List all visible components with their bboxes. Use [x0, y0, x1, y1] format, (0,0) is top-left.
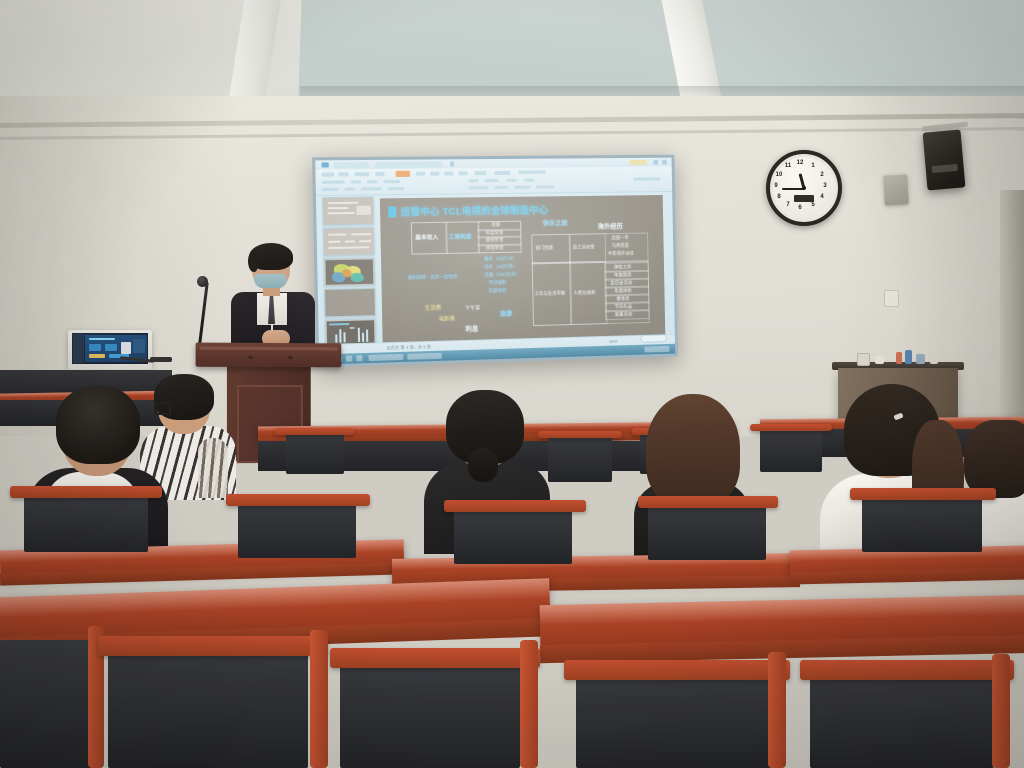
clock-numeral: 2 [818, 172, 826, 178]
chair-rail [98, 636, 328, 656]
maximize-icon[interactable] [653, 160, 658, 165]
app-logo-icon [322, 162, 329, 167]
chair-post [310, 630, 328, 768]
clock-numeral: 11 [784, 163, 792, 169]
chair-back [286, 432, 344, 474]
table-cell-text: 家属活动 [615, 311, 632, 317]
presenter-hair-side [248, 252, 258, 272]
slide-scatter-label: 生活费 [425, 303, 442, 311]
chair-rail [538, 431, 622, 438]
clock-minute-hand [782, 188, 804, 190]
cabinet-bottle [905, 350, 912, 364]
projection-surface: 运营中心 TCL电视的全球制造中心 基本收入 工资构成 月薪 年度奖金 绩效奖金… [315, 158, 675, 365]
chair-back [648, 504, 766, 560]
table-cell-text: 年度体检 [614, 287, 631, 293]
cabinet-box [916, 354, 925, 364]
taskbar-icon[interactable] [356, 355, 362, 361]
ribbon-button[interactable] [367, 180, 377, 183]
classroom-scene: 12 1 2 3 4 5 6 7 8 9 10 11 [0, 0, 1024, 768]
face-mask-icon [254, 274, 287, 288]
chair-rail [226, 494, 370, 506]
slide-thumbnail[interactable] [323, 227, 375, 256]
table-cell-text: 人性化福利 [574, 290, 596, 296]
slide-mid-item: 交通（200元/月） [484, 272, 520, 279]
table-cell-text: 员工活动室 [573, 244, 595, 250]
slide-scatter-label: 利息 [465, 324, 478, 333]
ribbon-button[interactable] [514, 186, 530, 189]
table-cell-text: 半年境外派驻 [608, 250, 634, 256]
ribbon-highlight-button[interactable] [396, 171, 410, 177]
ribbon-tab[interactable] [375, 161, 442, 168]
wall-vent-panel [883, 174, 909, 205]
clock-center-pin [802, 186, 806, 190]
chair-post [768, 652, 786, 768]
slide-thumbnail-pane[interactable] [320, 196, 377, 345]
ribbon-button[interactable] [384, 180, 400, 183]
ribbon-button[interactable] [494, 171, 510, 175]
podium-knob [248, 356, 253, 359]
chair-back [24, 494, 148, 552]
chair-rail [330, 648, 540, 668]
system-tray[interactable] [644, 346, 669, 353]
door-frame [1000, 190, 1024, 450]
clock-numeral: 4 [818, 194, 826, 200]
ribbon-button[interactable] [458, 171, 467, 175]
powerpoint-window[interactable]: 运营中心 TCL电视的全球制造中心 基本收入 工资构成 月薪 年度奖金 绩效奖金… [315, 158, 675, 365]
slide-mid-item: 年度体检 [489, 288, 507, 294]
table-cell-text: 基本收入 [415, 233, 438, 241]
laptop-lid [68, 330, 152, 370]
table-cell-text: 马来西亚 [612, 243, 629, 249]
table-cell-text: 生日会活动 [610, 280, 632, 286]
table-cell-text: 弹性工作 [614, 264, 631, 270]
ribbon-button[interactable] [361, 187, 382, 190]
ribbon-button[interactable] [495, 186, 509, 189]
chair-rail [850, 488, 996, 500]
slide-scatter-label: 电影票 [439, 315, 455, 322]
chair-rail [10, 486, 162, 498]
ribbon-button[interactable] [375, 172, 384, 176]
ribbon-button[interactable] [469, 179, 479, 182]
foreground-chair-back [108, 648, 308, 768]
ribbon-button[interactable] [322, 172, 334, 176]
slide-title: 运营中心 TCL电视的全球制造中心 [400, 202, 548, 218]
table-cell-text: 工作与生活平衡 [534, 290, 565, 297]
ribbon-button[interactable] [536, 185, 554, 188]
cabinet-cup [930, 356, 938, 364]
table-cell-text: 年度奖金 [485, 229, 503, 235]
ribbon-tab[interactable] [334, 161, 369, 167]
ribbon-button[interactable] [322, 181, 345, 184]
table-cell-text: 项目奖金 [486, 244, 504, 250]
current-slide[interactable]: 运营中心 TCL电视的全球制造中心 基本收入 工资构成 月薪 年度奖金 绩效奖金… [380, 195, 665, 343]
table-cell-text: 出国一年 [611, 235, 628, 241]
taskbar-window-button[interactable] [369, 354, 404, 361]
chair-back [760, 428, 822, 472]
zoom-level-label[interactable]: 66% [609, 339, 617, 344]
cabinet-jar [875, 356, 884, 364]
wall-speaker-icon [923, 129, 966, 190]
table-cell-text: 月薪 [491, 222, 500, 228]
slide-right-header-gray: 海外经历 [598, 221, 623, 230]
table-cell-text: 健身房 [616, 295, 629, 301]
ribbon-button[interactable] [322, 188, 339, 191]
clock-numeral: 10 [775, 172, 783, 178]
table-cell-text: 年度旅游 [614, 272, 631, 278]
slide-mid-label: 福利保障 · 五险一金住房 [408, 274, 458, 281]
foreground-chair-back [576, 672, 772, 768]
cabinet-cup [857, 353, 870, 366]
chair-post [520, 640, 538, 768]
slide-mid-item: 餐补（15元/天） [484, 256, 517, 263]
slide-scatter-label: 旅游 [500, 309, 512, 318]
clock-numeral: 7 [784, 202, 792, 208]
ribbon-button[interactable] [388, 187, 404, 190]
chair-back [238, 502, 356, 558]
foreground-chair-back [0, 640, 96, 768]
foreground-chair-back [810, 672, 994, 768]
ceiling-panel [298, 0, 1024, 96]
ribbon-button[interactable] [355, 172, 369, 176]
clock-numeral: 12 [796, 160, 804, 166]
chair-rail [274, 428, 354, 435]
table-cell-text: 工资构成 [448, 232, 471, 240]
taskbar-window-button[interactable] [407, 353, 442, 360]
clock-numeral: 5 [809, 202, 817, 208]
slide-scatter-label: 下午茶 [465, 304, 480, 311]
speaker-grille [931, 164, 958, 173]
zoom-slider[interactable] [640, 334, 667, 343]
chair-rail [444, 500, 586, 512]
ribbon-button[interactable] [430, 172, 439, 176]
podium-top [196, 343, 342, 368]
chair-rail [800, 660, 1014, 680]
projection-screen[interactable]: 运营中心 TCL电视的全球制造中心 基本收入 工资构成 月薪 年度奖金 绩效奖金… [312, 155, 678, 368]
ribbon-button[interactable] [338, 172, 348, 176]
slide-thumbnail-blank[interactable] [324, 288, 376, 318]
slide-thumbnail[interactable] [322, 196, 374, 225]
wall-outlet [884, 290, 899, 307]
chair-rail [638, 496, 778, 508]
ribbon-button[interactable] [634, 177, 661, 180]
slide-right-header-blue: 快乐之旅 [543, 218, 568, 227]
titlebar-icon [450, 161, 454, 166]
wall-clock-icon: 12 1 2 3 4 5 6 7 8 9 10 11 [766, 150, 842, 226]
clock-numeral: 3 [821, 183, 829, 189]
ribbon-button[interactable] [416, 172, 425, 176]
ribbon-button[interactable] [469, 186, 489, 189]
presenter-figure [226, 246, 318, 358]
table-cell-text: 绩效奖金 [486, 237, 504, 243]
cable-adapter [150, 357, 172, 362]
powerpoint-ribbon[interactable] [315, 166, 672, 196]
clock-numeral: 6 [796, 205, 804, 211]
ribbon-button[interactable] [444, 171, 453, 175]
table-cell-text: 部门团建 [535, 245, 553, 251]
ribbon-button[interactable] [345, 188, 355, 191]
ribbon-button[interactable] [524, 179, 534, 182]
chair-rail [564, 660, 790, 680]
close-icon[interactable] [662, 160, 667, 165]
chair-back [454, 508, 572, 564]
clock-numeral: 8 [775, 194, 783, 200]
slide-mid-item: 节日福利 [488, 280, 506, 286]
clock-brand-plate [794, 195, 814, 202]
laptop-slide-pane [73, 334, 84, 363]
ribbon-button[interactable] [506, 179, 516, 182]
ribbon-button[interactable] [485, 179, 499, 182]
slide-thumbnail-map[interactable] [323, 257, 375, 287]
podium-highlight [200, 347, 338, 351]
chair-back [862, 496, 982, 552]
ribbon-button[interactable] [518, 171, 546, 174]
podium-knob [288, 356, 293, 359]
minimize-icon[interactable] [629, 160, 646, 165]
ponytail [468, 448, 498, 482]
slide-mid-item: 话补（40元/月） [484, 264, 517, 271]
taskbar-icon[interactable] [346, 355, 352, 361]
foreground-chair-back [340, 660, 520, 768]
clock-numeral: 1 [809, 163, 817, 169]
chair-back [548, 436, 612, 482]
ribbon-button[interactable] [474, 171, 486, 175]
clock-numeral: 9 [772, 183, 780, 189]
cabinet-bottle [896, 352, 902, 364]
chair-post [992, 654, 1010, 768]
ribbon-button[interactable] [351, 180, 361, 183]
table-cell-text: 节日礼品 [615, 303, 632, 309]
slide-title-accent [388, 206, 396, 217]
